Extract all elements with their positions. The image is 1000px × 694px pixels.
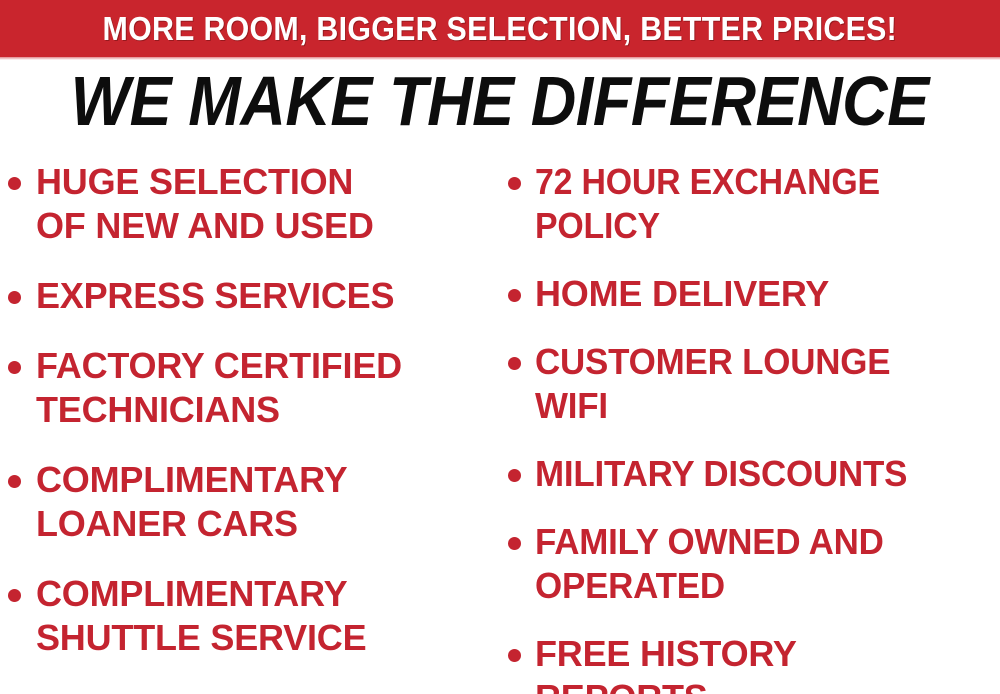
benefit-line-2: REPORTS [535, 676, 797, 694]
benefit-label: HUGE SELECTION OF NEW AND USED [36, 160, 374, 248]
bullet-dot-icon [508, 357, 521, 370]
benefit-line-1: HUGE SELECTION [36, 160, 374, 204]
bullet-dot-icon [8, 589, 21, 602]
benefit-label: MILITARY DISCOUNTS [535, 452, 907, 496]
benefit-item-family-owned-and-operated: FAMILY OWNED AND OPERATED [508, 520, 1000, 608]
banner-headline: MORE ROOM, BIGGER SELECTION, BETTER PRIC… [103, 12, 898, 45]
bullet-dot-icon [8, 177, 21, 190]
benefit-line-1: FACTORY CERTIFIED [36, 344, 402, 388]
benefit-line-2: OF NEW AND USED [36, 204, 374, 248]
top-banner: MORE ROOM, BIGGER SELECTION, BETTER PRIC… [0, 0, 1000, 57]
benefit-item-free-history-reports: FREE HISTORY REPORTS [508, 632, 1000, 694]
bullet-dot-icon [508, 177, 521, 190]
benefit-item-complimentary-shuttle-service: COMPLIMENTARY SHUTTLE SERVICE [8, 572, 500, 660]
benefit-item-military-discounts: MILITARY DISCOUNTS [508, 452, 1000, 496]
benefit-label: FACTORY CERTIFIED TECHNICIANS [36, 344, 402, 432]
benefit-label: 72 HOUR EXCHANGE POLICY [535, 160, 880, 248]
benefit-line-1: FAMILY OWNED AND [535, 520, 884, 564]
benefit-line-2: TECHNICIANS [36, 388, 402, 432]
benefits-column-right: 72 HOUR EXCHANGE POLICY HOME DELIVERY CU… [508, 160, 1000, 694]
benefit-label: COMPLIMENTARY SHUTTLE SERVICE [36, 572, 366, 660]
benefit-label: CUSTOMER LOUNGE WIFI [535, 340, 890, 428]
benefit-item-huge-selection: HUGE SELECTION OF NEW AND USED [8, 160, 500, 248]
benefit-line-2: OPERATED [535, 564, 884, 608]
main-headline: WE MAKE THE DIFFERENCE [71, 62, 929, 140]
benefit-item-express-services: EXPRESS SERVICES [8, 274, 500, 318]
benefits-columns: HUGE SELECTION OF NEW AND USED EXPRESS S… [0, 160, 1000, 694]
benefit-label: COMPLIMENTARY LOANER CARS [36, 458, 347, 546]
benefits-column-left: HUGE SELECTION OF NEW AND USED EXPRESS S… [8, 160, 500, 694]
benefit-line-2: LOANER CARS [36, 502, 347, 546]
benefit-item-72-hour-exchange-policy: 72 HOUR EXCHANGE POLICY [508, 160, 1000, 248]
benefit-line-1: 72 HOUR EXCHANGE [535, 160, 880, 204]
benefit-line-2: SHUTTLE SERVICE [36, 616, 366, 660]
benefit-line-2: POLICY [535, 204, 880, 248]
promotional-poster: MORE ROOM, BIGGER SELECTION, BETTER PRIC… [0, 0, 1000, 694]
benefit-label: FAMILY OWNED AND OPERATED [535, 520, 884, 608]
benefit-item-factory-certified-technicians: FACTORY CERTIFIED TECHNICIANS [8, 344, 500, 432]
benefit-line-1: MILITARY DISCOUNTS [535, 452, 907, 496]
benefit-label: EXPRESS SERVICES [36, 274, 394, 318]
benefit-item-home-delivery: HOME DELIVERY [508, 272, 1000, 316]
main-headline-container: WE MAKE THE DIFFERENCE [0, 62, 1000, 140]
bullet-dot-icon [8, 361, 21, 374]
benefit-label: FREE HISTORY REPORTS [535, 632, 797, 694]
bullet-dot-icon [8, 291, 21, 304]
bullet-dot-icon [8, 475, 21, 488]
benefit-line-1: HOME DELIVERY [535, 272, 829, 316]
benefit-line-1: COMPLIMENTARY [36, 458, 347, 502]
benefit-label: HOME DELIVERY [535, 272, 829, 316]
bullet-dot-icon [508, 469, 521, 482]
benefit-item-complimentary-loaner-cars: COMPLIMENTARY LOANER CARS [8, 458, 500, 546]
bullet-dot-icon [508, 289, 521, 302]
benefit-item-customer-lounge-wifi: CUSTOMER LOUNGE WIFI [508, 340, 1000, 428]
benefit-line-1: FREE HISTORY [535, 632, 797, 676]
benefit-line-1: CUSTOMER LOUNGE [535, 340, 890, 384]
benefit-line-1: EXPRESS SERVICES [36, 274, 394, 318]
bullet-dot-icon [508, 649, 521, 662]
benefit-line-1: COMPLIMENTARY [36, 572, 366, 616]
bullet-dot-icon [508, 537, 521, 550]
benefit-line-2: WIFI [535, 384, 890, 428]
